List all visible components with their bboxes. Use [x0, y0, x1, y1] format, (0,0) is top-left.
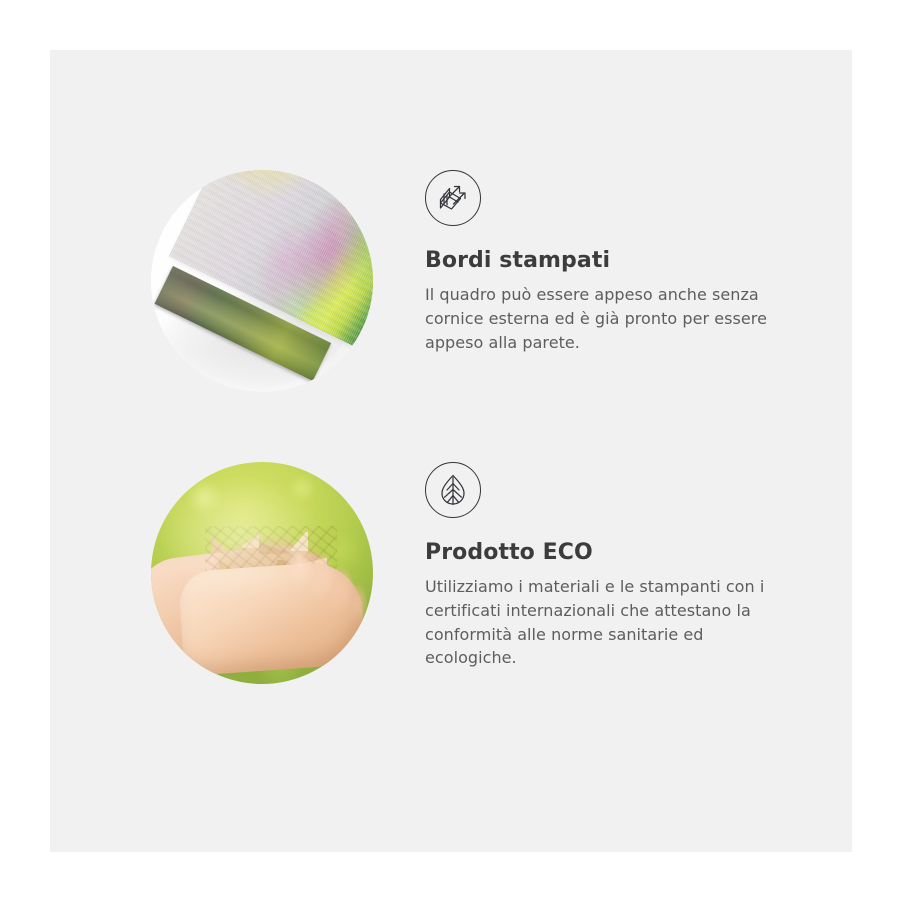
feature-description: Il quadro può essere appeso anche senza … — [425, 283, 797, 354]
printed-edges-icon-glyph — [436, 181, 470, 215]
product-feature-infographic: Bordi stampati Il quadro può essere appe… — [0, 0, 900, 900]
photo-sunlight-overlay — [151, 462, 373, 684]
feature-title: Bordi stampati — [425, 248, 825, 274]
wood-chips-photo — [151, 462, 373, 684]
feature-description: Utilizziamo i materiali e le stampanti c… — [425, 575, 797, 670]
canvas-corner-photo — [151, 170, 373, 392]
feature-content-eco-product: Prodotto ECO Utilizziamo i materiali e l… — [425, 462, 825, 670]
printed-edges-icon — [425, 170, 481, 226]
feature-list: Bordi stampati Il quadro può essere appe… — [50, 50, 852, 852]
leaf-icon-glyph — [436, 473, 470, 507]
leaf-icon — [425, 462, 481, 518]
feature-title: Prodotto ECO — [425, 540, 825, 566]
feature-content-printed-edges: Bordi stampati Il quadro può essere appe… — [425, 170, 825, 354]
feature-panel: Bordi stampati Il quadro può essere appe… — [50, 50, 852, 852]
